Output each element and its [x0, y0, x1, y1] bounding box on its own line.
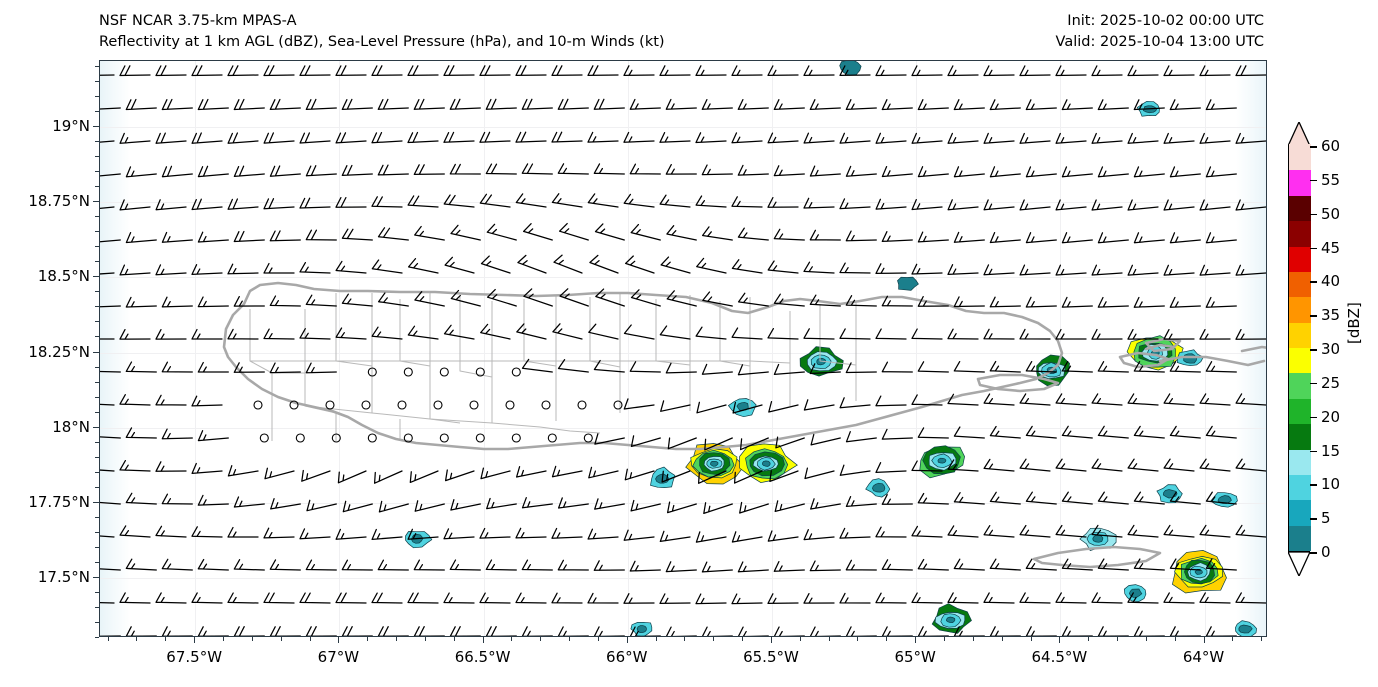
wind-barb	[666, 627, 696, 637]
wind-barb	[1026, 233, 1056, 243]
wind-barb	[99, 460, 114, 471]
x-axis-minor-tick	[742, 637, 743, 641]
wind-barb	[162, 362, 192, 372]
wind-barb	[99, 394, 114, 405]
wind-barb	[732, 260, 762, 273]
wind-barb	[1134, 233, 1164, 243]
wind-barb	[408, 593, 438, 603]
wind-barb	[768, 198, 798, 208]
wind-barb	[1206, 100, 1236, 110]
colorbar-tick-label: 15	[1321, 442, 1340, 460]
wind-barb	[372, 133, 402, 143]
y-axis-tick	[93, 502, 99, 503]
wind-barb	[882, 627, 912, 637]
wind-barb	[156, 395, 186, 405]
wind-barb	[732, 197, 762, 207]
wind-barb	[990, 559, 1020, 570]
calm-wind-symbol	[362, 401, 370, 409]
wind-barb	[882, 100, 912, 110]
wind-barb	[660, 133, 690, 143]
colorbar-segment	[1289, 322, 1311, 348]
colorbar-segment	[1289, 297, 1311, 323]
wind-barb	[1128, 330, 1158, 340]
wind-barb	[804, 530, 834, 540]
wind-barb	[415, 292, 444, 306]
x-axis-minor-tick	[540, 637, 541, 641]
wind-barb	[1098, 362, 1128, 372]
wind-barb	[306, 295, 336, 306]
wind-barb	[840, 199, 870, 209]
wind-barb	[1170, 559, 1200, 570]
colorbar-tick-label: 10	[1321, 475, 1340, 493]
wind-barb	[1020, 394, 1050, 405]
wind-barb	[990, 233, 1020, 243]
wind-barb	[126, 559, 156, 570]
wind-barb	[228, 466, 258, 476]
wind-barb	[264, 264, 294, 274]
wind-barb	[120, 526, 150, 537]
wind-barb	[99, 200, 114, 210]
wind-barb	[162, 233, 192, 243]
wind-barb	[948, 394, 978, 405]
wind-barb	[1062, 297, 1092, 307]
wind-barb	[1128, 394, 1158, 405]
colorbar-tick	[1310, 484, 1317, 486]
wind-barb	[774, 166, 804, 176]
wind-barb	[378, 99, 408, 109]
wind-barb	[918, 100, 948, 110]
wind-barb	[1020, 265, 1050, 275]
wind-barb	[270, 100, 300, 110]
y-axis-tick	[93, 276, 99, 277]
wind-barb	[552, 132, 582, 142]
wind-barb	[228, 329, 258, 339]
wind-barb	[1020, 134, 1050, 144]
x-axis-minor-tick	[511, 637, 512, 641]
wind-barb	[192, 133, 222, 143]
calm-wind-symbol	[542, 401, 550, 409]
x-axis-tick	[1204, 637, 1205, 643]
wind-barb	[1092, 394, 1122, 405]
x-axis-minor-tick	[973, 637, 974, 641]
wind-barb	[1200, 134, 1230, 144]
wind-barb	[697, 402, 726, 413]
wind-barb	[228, 528, 258, 538]
wind-barb	[912, 133, 942, 143]
y-axis-minor-tick	[95, 306, 99, 307]
colorbar-tick	[1310, 451, 1317, 453]
wind-barb	[162, 100, 192, 110]
wind-barb	[984, 329, 1014, 339]
wind-barb	[1134, 100, 1164, 110]
x-axis-minor-tick	[1117, 637, 1118, 641]
wind-barb	[912, 461, 942, 471]
wind-barb	[1134, 167, 1164, 177]
wind-barb	[1134, 298, 1164, 308]
colorbar-segment	[1289, 500, 1311, 526]
wind-barb	[414, 165, 444, 175]
wind-barb	[560, 224, 589, 240]
wind-barb	[524, 224, 553, 240]
wind-barb	[300, 198, 330, 208]
wind-barb	[270, 627, 300, 637]
wind-barb	[738, 627, 768, 637]
wind-barb	[198, 431, 228, 441]
wind-barb	[99, 265, 114, 275]
wind-barb	[99, 233, 120, 243]
wind-barb	[984, 526, 1014, 537]
wind-barb	[912, 264, 942, 274]
wind-barb	[99, 330, 114, 340]
wind-barb	[804, 198, 834, 208]
wind-barb	[984, 200, 1014, 210]
wind-barb	[1164, 134, 1194, 144]
wind-barb	[702, 562, 732, 572]
wind-barb	[840, 263, 870, 273]
wind-barb	[624, 194, 654, 207]
y-axis-tick	[93, 126, 99, 127]
wind-barb	[668, 502, 697, 512]
wind-barb	[632, 290, 661, 306]
wind-barb	[626, 256, 654, 273]
wind-barb	[192, 396, 222, 406]
wind-barb	[918, 428, 948, 438]
colorbar-tick	[1310, 214, 1317, 216]
wind-barb	[517, 467, 546, 477]
wind-barb	[270, 231, 300, 241]
wind-barb	[480, 132, 510, 142]
wind-barb	[954, 627, 984, 637]
wind-barb	[342, 560, 372, 570]
y-axis-minor-tick	[95, 472, 99, 473]
colorbar-gradient	[1288, 146, 1310, 552]
x-axis-minor-tick	[1002, 637, 1003, 641]
colorbar-tick-label: 25	[1321, 374, 1340, 392]
x-axis-minor-tick	[425, 637, 426, 641]
wind-barb	[1098, 100, 1128, 110]
y-axis-minor-tick	[95, 216, 99, 217]
calm-wind-symbol	[476, 368, 484, 376]
init-time-label: Init: 2025-10-02 00:00 UTC	[1067, 11, 1264, 31]
wind-barb	[876, 199, 906, 209]
y-axis-tick-label: 17.5°N	[38, 568, 90, 586]
wind-barb	[912, 66, 942, 76]
wind-barb	[704, 503, 733, 514]
y-axis-tick	[93, 352, 99, 353]
wind-barb	[343, 501, 372, 511]
wind-barb	[1062, 426, 1092, 438]
wind-barb	[948, 329, 978, 339]
x-axis-minor-tick	[569, 637, 570, 641]
wind-barb	[450, 627, 480, 637]
wind-barb	[1098, 559, 1128, 570]
x-axis-minor-tick	[1232, 637, 1233, 641]
wind-barb	[631, 225, 660, 240]
wind-barb	[1164, 525, 1194, 537]
wind-barb	[696, 327, 726, 339]
wind-barb	[156, 526, 186, 537]
wind-barb	[522, 99, 552, 109]
wind-barb	[918, 232, 948, 242]
wind-barb	[882, 495, 912, 505]
wind-barb	[1026, 627, 1056, 637]
wind-barb	[589, 467, 618, 477]
wind-barb	[1236, 66, 1266, 76]
wind-barb	[126, 428, 156, 438]
wind-barb	[984, 265, 1014, 275]
wind-barb	[876, 593, 906, 603]
wind-barb	[882, 232, 912, 242]
wind-barb	[522, 164, 552, 174]
wind-barb	[846, 296, 876, 306]
wind-barb	[1092, 330, 1122, 340]
calm-wind-symbol	[548, 434, 556, 442]
wind-barb	[696, 196, 726, 207]
wind-barb	[264, 199, 294, 209]
wind-barb	[954, 362, 984, 372]
wind-barb	[486, 560, 516, 570]
wind-barb	[481, 324, 510, 339]
wind-barb	[740, 503, 769, 514]
wind-barb	[378, 627, 408, 637]
wind-barb	[554, 255, 582, 273]
wind-barb	[192, 593, 222, 603]
wind-barb	[1206, 492, 1236, 504]
wind-barb	[444, 132, 474, 142]
x-axis-tick	[1059, 637, 1060, 643]
wind-barb	[486, 99, 516, 109]
wind-barb	[703, 292, 733, 306]
wind-barb	[810, 561, 840, 571]
y-axis-minor-tick	[95, 186, 99, 187]
wind-barb	[660, 594, 690, 604]
wind-barb	[774, 365, 804, 375]
wind-barb	[1206, 233, 1236, 243]
wind-barb	[702, 627, 732, 637]
wind-barb	[270, 363, 300, 373]
wind-barb	[954, 167, 984, 177]
wind-barb	[1056, 459, 1086, 471]
wind-barb	[990, 427, 1020, 439]
wind-barb	[876, 329, 906, 339]
wind-barb	[1062, 233, 1092, 243]
wind-barb	[590, 255, 618, 273]
map-axes[interactable]	[99, 60, 1267, 637]
wind-barb	[594, 164, 624, 174]
wind-barb	[702, 100, 732, 110]
model-title: NSF NCAR 3.75-km MPAS-A	[99, 11, 297, 31]
wind-barb	[588, 66, 618, 76]
x-axis-tick	[771, 637, 772, 643]
wind-barb	[768, 329, 798, 339]
wind-barb	[444, 66, 474, 76]
x-axis-minor-tick	[108, 637, 109, 641]
wind-barb	[847, 432, 877, 442]
x-axis-minor-tick	[800, 637, 801, 641]
wind-barb	[234, 627, 264, 637]
x-axis-tick	[483, 637, 484, 643]
wind-barb	[588, 593, 618, 603]
calm-wind-symbol	[254, 401, 262, 409]
wind-barb	[738, 562, 768, 572]
wind-barb	[768, 531, 798, 541]
wind-barb	[912, 395, 942, 405]
wind-barb	[126, 627, 156, 637]
wind-barb	[804, 262, 834, 273]
wind-barb	[264, 329, 294, 339]
wind-barb	[774, 562, 804, 572]
x-axis-minor-tick	[223, 637, 224, 641]
wind-barb	[378, 165, 408, 175]
colorbar-segment	[1289, 398, 1311, 424]
wind-barb	[1056, 265, 1086, 275]
x-axis-tick-label: 67.5°W	[166, 648, 222, 666]
wind-barb	[156, 200, 186, 210]
wind-barb	[1062, 362, 1092, 372]
wind-barb	[1200, 525, 1230, 537]
wind-barb	[882, 429, 912, 439]
wind-barb	[1062, 100, 1092, 110]
wind-barb	[410, 471, 438, 482]
wind-barb	[375, 471, 402, 483]
wind-barb	[776, 437, 804, 448]
wind-barb	[882, 167, 912, 177]
wind-barb	[1020, 66, 1050, 76]
wind-barb	[984, 133, 1014, 143]
colorbar-tick-label: 40	[1321, 272, 1340, 290]
wind-barb	[1062, 627, 1092, 637]
wind-barb	[738, 228, 768, 240]
wind-barb	[1128, 200, 1158, 210]
y-axis-tick-label: 17.75°N	[28, 493, 90, 511]
wind-barb	[480, 66, 510, 76]
wind-barb	[300, 329, 330, 339]
wind-barb	[553, 466, 583, 476]
wind-barb	[876, 133, 906, 143]
wind-barb	[948, 66, 978, 76]
wind-barb	[415, 501, 444, 511]
wind-barb	[1206, 298, 1236, 308]
wind-barb	[1200, 200, 1230, 210]
wind-barb	[1056, 394, 1086, 405]
colorbar[interactable]: 051015202530354045505560	[1288, 122, 1310, 576]
wind-barb	[594, 627, 624, 637]
wind-barb	[735, 471, 762, 483]
wind-barb	[1200, 265, 1230, 275]
wind-barb	[450, 164, 480, 174]
wind-barb	[162, 494, 192, 504]
wind-barb	[234, 363, 264, 373]
wind-barb	[99, 526, 114, 537]
wind-barb	[954, 100, 984, 110]
wind-barb	[445, 325, 475, 339]
wind-barb	[1128, 525, 1158, 537]
wind-barb	[408, 133, 438, 143]
wind-barb	[1062, 167, 1092, 177]
calm-wind-symbol	[326, 401, 334, 409]
x-axis-tick-label: 64°W	[1183, 648, 1224, 666]
wind-barb	[804, 133, 834, 143]
y-axis-minor-tick	[95, 231, 99, 232]
colorbar-under-arrow	[1288, 552, 1310, 576]
x-axis-minor-tick	[454, 637, 455, 641]
calm-wind-symbol	[368, 434, 376, 442]
wind-barb	[444, 195, 474, 207]
wind-barb	[918, 167, 948, 177]
wind-barb	[99, 297, 120, 307]
colorbar-tick-label: 55	[1321, 171, 1340, 189]
wind-barb	[840, 593, 870, 603]
wind-barb	[990, 627, 1020, 637]
wind-barb	[120, 395, 150, 405]
wind-barb	[990, 100, 1020, 110]
wind-barb	[918, 494, 948, 505]
wind-barb	[810, 100, 840, 110]
wind-barb	[450, 560, 480, 570]
wind-barb	[523, 359, 553, 372]
wind-barb	[372, 530, 402, 540]
wind-barb	[918, 297, 948, 307]
wind-barb	[774, 294, 804, 306]
wind-barb	[1026, 492, 1056, 504]
wind-barb	[198, 627, 228, 637]
wind-barb	[234, 297, 264, 307]
colorbar-tick	[1310, 417, 1317, 419]
wind-barb	[625, 469, 654, 480]
wind-barb	[768, 261, 798, 273]
wind-barb	[482, 256, 511, 273]
wind-barb	[774, 229, 804, 240]
wind-barb	[336, 66, 366, 76]
y-axis-minor-tick	[95, 637, 99, 638]
wind-barb	[342, 166, 372, 176]
wind-barb	[741, 438, 769, 450]
wind-barb	[1134, 362, 1164, 372]
wind-barb	[120, 200, 150, 210]
y-axis-minor-tick	[95, 592, 99, 593]
wind-barb	[632, 436, 661, 447]
wind-barb	[378, 560, 408, 570]
wind-barb	[774, 100, 804, 110]
wind-barb	[162, 297, 192, 307]
calm-wind-symbol	[584, 434, 592, 442]
wind-barb	[300, 133, 330, 143]
colorbar-tick-label: 60	[1321, 137, 1340, 155]
x-axis-tick-label: 65.5°W	[743, 648, 799, 666]
colorbar-segment	[1289, 144, 1311, 170]
wind-barb	[661, 257, 690, 273]
wind-barb	[228, 133, 258, 143]
wind-barb	[702, 165, 732, 175]
wind-barb	[1170, 362, 1200, 372]
wind-barb	[342, 627, 372, 637]
wind-barb	[811, 435, 840, 445]
wind-barb	[954, 232, 984, 242]
wind-barb	[1164, 200, 1194, 210]
colorbar-tick-label: 35	[1321, 306, 1340, 324]
y-axis-minor-tick	[95, 517, 99, 518]
wind-barb	[1236, 265, 1266, 275]
colorbar-tick	[1310, 349, 1317, 351]
x-axis-tick-label: 66.5°W	[455, 648, 511, 666]
wind-barb	[192, 330, 222, 340]
wind-barb	[912, 593, 942, 603]
wind-barb	[1092, 200, 1122, 210]
wind-barb	[265, 468, 294, 479]
wind-barb	[336, 593, 366, 603]
wind-barb	[697, 258, 726, 273]
wind-barb	[518, 255, 546, 273]
